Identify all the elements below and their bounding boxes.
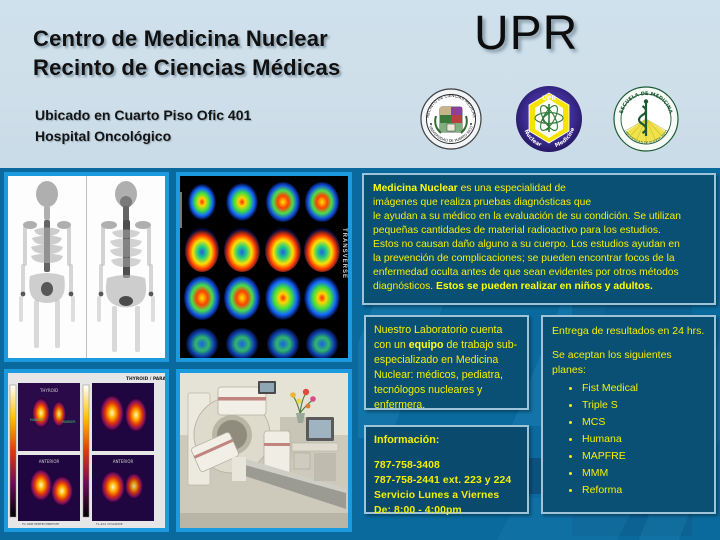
- desc-line-1: Medicina Nuclear es una especialidad de: [373, 182, 705, 196]
- bone-view-posterior: [87, 176, 165, 358]
- service-days: Servicio Lunes a Viernes: [374, 488, 519, 503]
- desc-line-1-rest: es una especialidad de: [458, 183, 566, 194]
- rcm-seal: RECINTO DE CIENCIAS MEDICAS UNIVERSIDAD …: [420, 88, 482, 150]
- desc-line-3: le ayudan a su médico en la evaluación d…: [373, 210, 705, 224]
- subtitle-line-1: Ubicado en Cuarto Piso Ofic 401: [35, 107, 251, 123]
- list-item: Triple S: [569, 397, 705, 414]
- brain-pet-orientation-label: TRANSVERSE: [338, 228, 347, 279]
- desc-bold-lead: Medicina Nuclear: [373, 183, 458, 194]
- desc-line-2: imágenes que realiza pruebas diagnóstica…: [373, 196, 705, 210]
- info-title: Información:: [374, 433, 519, 449]
- bone-scintigraphy-image: [4, 172, 169, 362]
- list-item: MAPFRE: [569, 448, 705, 465]
- list-item: MCS: [569, 414, 705, 431]
- service-hours: De: 8:00 - 4:00pm: [374, 503, 519, 518]
- slide-root: Centro de Medicina Nuclear Recinto de Ci…: [0, 0, 720, 540]
- bone-view-anterior: [8, 176, 87, 358]
- svg-text:THYROID / PARATHYROID: THYROID / PARATHYROID: [126, 376, 165, 382]
- svg-text:TC-99M PERTECHNETATE: TC-99M PERTECHNETATE: [21, 522, 59, 526]
- equipo-de-trabajo-panel: Nuestro Laboratorio cuenta con un equipo…: [364, 315, 529, 410]
- desc-line-4: pequeñas cantidades de material radioact…: [373, 224, 705, 238]
- svg-text:MARKER: MARKER: [62, 420, 76, 424]
- desc-bold-tail: Estos se pueden realizar en niños y adul…: [436, 281, 653, 292]
- brain-pet-image: TRANSVERSE: [176, 172, 352, 362]
- gamma-camera-photo: [176, 369, 352, 532]
- svg-text:MARKER: MARKER: [30, 418, 44, 422]
- phone-primary[interactable]: 787-758-3408: [374, 458, 519, 473]
- upr-acronym: UPR: [474, 6, 578, 61]
- thyroid-scintigraphy-image: THYROID / PARATHYROID THYROID MARKER MAR…: [4, 369, 169, 532]
- plans-lead-text: Se aceptan los siguientes planes:: [552, 348, 705, 378]
- page-subtitle: Ubicado en Cuarto Piso Ofic 401 Hospital…: [35, 105, 455, 148]
- desc-line-8: diagnósticos. Estos se pueden realizar e…: [373, 280, 705, 294]
- informacion-contacto-panel: Información: 787-758-3408 787-758-2441 e…: [364, 425, 529, 514]
- title-line-1: Centro de Medicina Nuclear: [33, 26, 328, 51]
- school-of-medicine-seal: ESCUELA DE MEDICINA UNIVERSIDAD DE PUERT…: [613, 86, 679, 152]
- plans-list: Fist Medical Triple S MCS Humana MAPFRE …: [552, 380, 705, 499]
- svg-text:ANTERIOR: ANTERIOR: [39, 459, 60, 464]
- phone-secondary[interactable]: 787-758-2441 ext. 223 y 224: [374, 473, 519, 488]
- svg-text:ANTERIOR: ANTERIOR: [113, 459, 134, 464]
- planes-aceptados-panel: Entrega de resultados en 24 hrs. Se acep…: [541, 315, 716, 514]
- desc-line-6: la prevención de complicaciones; se pued…: [373, 252, 705, 266]
- desc-line-7: enfermedad oculta antes de que sean evid…: [373, 266, 705, 280]
- svg-text:TL-201 CHLORIDE: TL-201 CHLORIDE: [95, 522, 123, 526]
- svg-text:UPR: UPR: [542, 95, 556, 102]
- team-text-bold: equipo: [409, 339, 444, 351]
- header-banner: Centro de Medicina Nuclear Recinto de Ci…: [0, 0, 720, 168]
- page-title: Centro de Medicina Nuclear Recinto de Ci…: [33, 24, 453, 82]
- descripcion-medicina-nuclear-panel: Medicina Nuclear es una especialidad de …: [362, 173, 716, 305]
- delivery-time-text: Entrega de resultados en 24 hrs.: [552, 324, 705, 339]
- title-line-2: Recinto de Ciencias Médicas: [33, 53, 453, 82]
- list-item: Reforma: [569, 482, 705, 499]
- svg-text:THYROID: THYROID: [39, 388, 58, 393]
- list-item: Humana: [569, 431, 705, 448]
- list-item: Fist Medical: [569, 380, 705, 397]
- subtitle-line-2: Hospital Oncológico: [35, 126, 455, 147]
- desc-line-8-start: diagnósticos.: [373, 281, 436, 292]
- nuclear-medicine-seal: UPR Nuclear Medicine: [515, 85, 583, 153]
- desc-line-5: Estos no causan daño alguno a su cuerpo.…: [373, 238, 705, 252]
- list-item: MMM: [569, 465, 705, 482]
